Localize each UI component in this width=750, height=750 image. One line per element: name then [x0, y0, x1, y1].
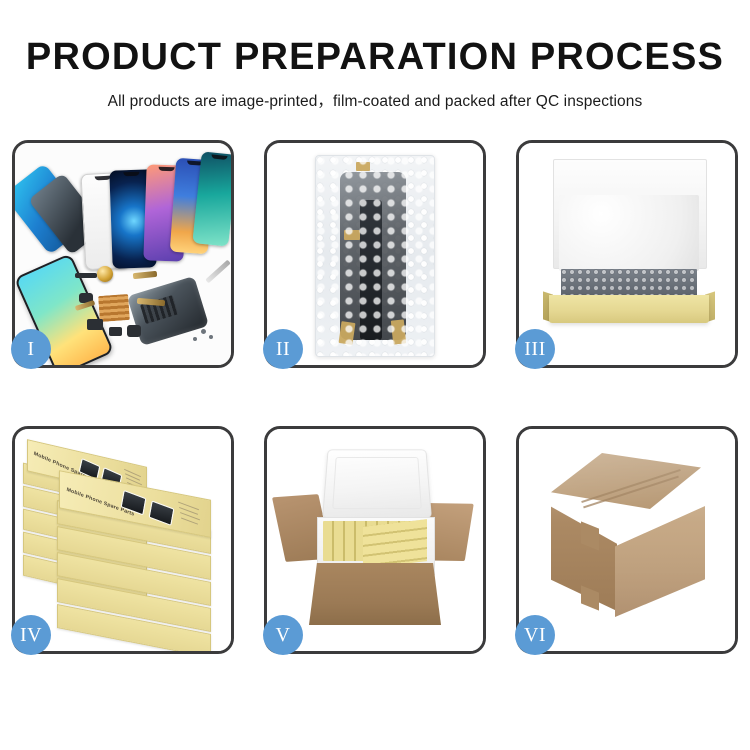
step-badge-5: V — [263, 615, 303, 655]
step-2-image — [267, 143, 483, 365]
tweezers-icon — [205, 260, 231, 284]
step-badge-2: II — [263, 329, 303, 369]
process-step-3: III — [516, 140, 738, 368]
foam-cooler-lid — [322, 449, 432, 518]
notch-icon — [95, 176, 111, 181]
yellow-boxes-inside — [363, 519, 427, 569]
box-stack: Mobile Phone Spare Parts — [23, 443, 227, 639]
small-part-camera — [87, 319, 103, 330]
carton-right-face — [615, 491, 705, 617]
process-step-1: I — [12, 140, 234, 368]
process-step-4: Mobile Phone Spare Parts — [12, 426, 234, 654]
bubble-wrapped-contents — [561, 269, 697, 297]
foam-sheet — [559, 195, 699, 271]
screw-part — [201, 329, 206, 334]
small-part-button — [109, 327, 122, 336]
notch-icon — [158, 167, 174, 172]
notch-icon — [123, 172, 139, 177]
bubble-wrap-bag — [315, 155, 435, 357]
inner-box-front — [549, 295, 709, 323]
chip-array-part — [98, 294, 130, 322]
process-step-5: V — [264, 426, 486, 654]
header: PRODUCT PREPARATION PROCESS All products… — [0, 38, 750, 111]
flex-cable-part — [133, 271, 157, 279]
step-badge-4: IV — [11, 615, 51, 655]
page-subtitle: All products are image-printed，film-coat… — [0, 89, 750, 111]
screw-part — [209, 335, 213, 339]
step-badge-6: VI — [515, 615, 555, 655]
step-4-image: Mobile Phone Spare Parts — [15, 429, 231, 651]
carton-top-face — [551, 453, 701, 509]
step-badge-3: III — [515, 329, 555, 369]
bubble-texture — [316, 156, 434, 356]
notch-icon — [211, 154, 227, 160]
step-1-image — [15, 143, 231, 365]
step-5-image — [267, 429, 483, 651]
small-part-speaker — [127, 325, 141, 337]
page-title: PRODUCT PREPARATION PROCESS — [0, 38, 750, 78]
step-6-image — [519, 429, 735, 651]
carton-front-face — [309, 563, 441, 625]
process-step-2: II — [264, 140, 486, 368]
step-3-image — [519, 143, 735, 365]
step-badge-1: I — [11, 329, 51, 369]
small-part-bar — [75, 273, 97, 278]
screw-part — [193, 337, 197, 341]
process-step-grid: I II — [12, 140, 738, 654]
process-step-6: VI — [516, 426, 738, 654]
product-preparation-infographic: PRODUCT PREPARATION PROCESS All products… — [0, 0, 750, 750]
speaker-coil-part — [97, 266, 113, 282]
